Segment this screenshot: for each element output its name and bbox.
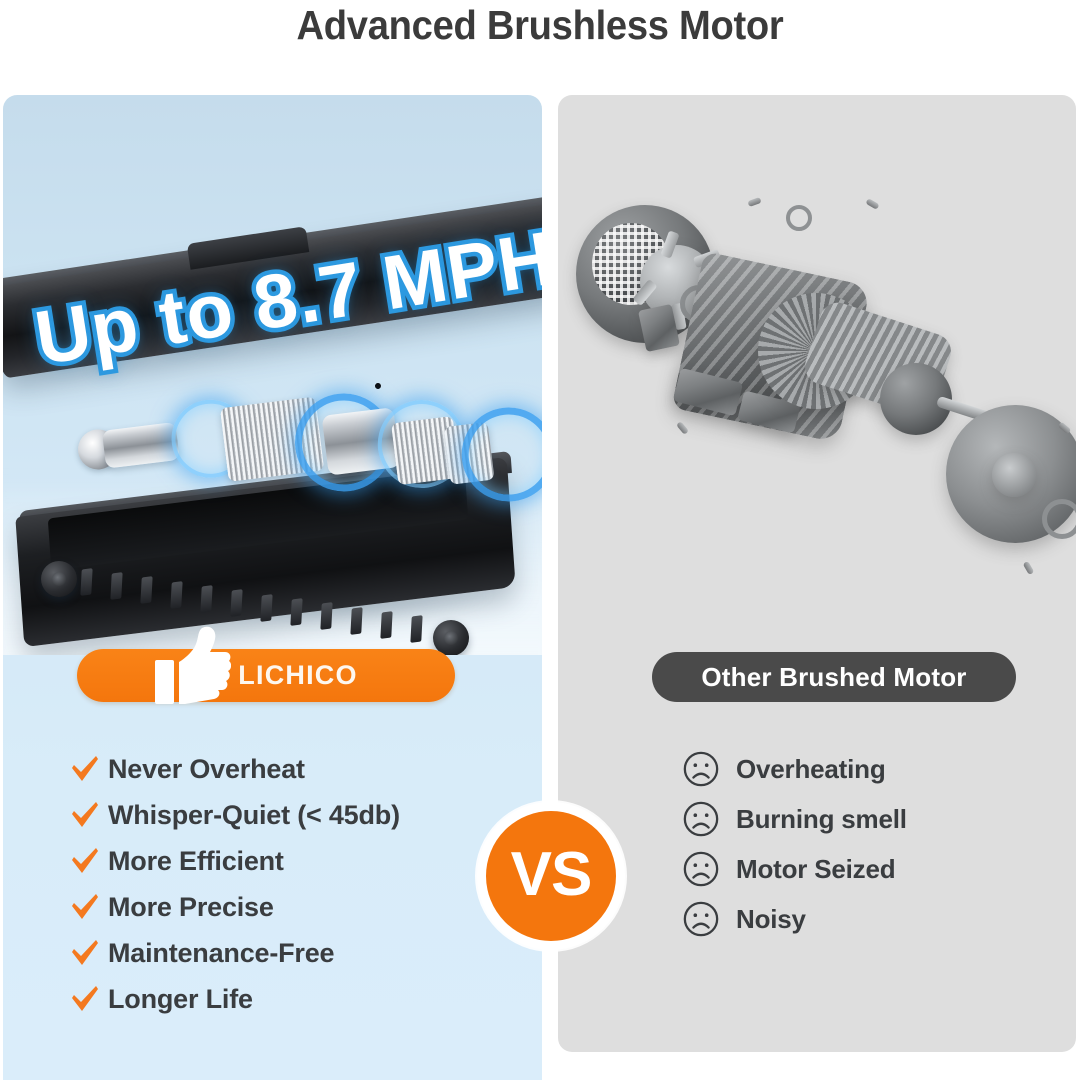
list-item: Motor Seized — [682, 844, 1042, 894]
check-icon — [62, 801, 108, 829]
deck-fin — [260, 594, 272, 622]
motor-shaft-segment — [102, 422, 180, 469]
motor-glow-ring — [456, 402, 542, 507]
motor-screw — [676, 421, 689, 435]
check-icon — [62, 893, 108, 921]
feature-label: Never Overheat — [108, 754, 305, 785]
brushed-motor-photo — [558, 95, 1076, 615]
feature-label: More Precise — [108, 892, 274, 923]
feature-label: Maintenance-Free — [108, 938, 334, 969]
list-item: More Efficient — [62, 838, 492, 884]
lichico-badge-label: LICHICO — [77, 649, 455, 702]
deck-fin — [380, 611, 392, 639]
deck-fin — [320, 602, 332, 630]
drawback-label: Noisy — [736, 904, 806, 935]
deck-caster-wheel — [41, 561, 77, 597]
infographic-stage: Advanced Brushless Motor — [0, 0, 1080, 1080]
list-item: Whisper-Quiet (< 45db) — [62, 792, 492, 838]
drawback-label: Motor Seized — [736, 854, 895, 885]
list-item: Never Overheat — [62, 746, 492, 792]
list-item: Longer Life — [62, 976, 492, 1022]
list-item: More Precise — [62, 884, 492, 930]
vs-label: VS — [511, 839, 592, 910]
check-icon — [62, 847, 108, 875]
sad-face-icon — [682, 850, 736, 888]
check-icon — [62, 985, 108, 1013]
list-item: Burning smell — [682, 794, 1042, 844]
feature-label: Whisper-Quiet (< 45db) — [108, 800, 400, 831]
brushless-motor-photo: Up to 8.7 MPH — [3, 95, 542, 655]
sad-face-icon — [682, 900, 736, 938]
sad-face-icon — [682, 800, 736, 838]
list-item: Maintenance-Free — [62, 930, 492, 976]
sad-face-icon — [682, 750, 736, 788]
drawback-label: Burning smell — [736, 804, 907, 835]
deck-fin — [230, 589, 242, 617]
deck-fin — [350, 607, 362, 635]
drawback-label: Overheating — [736, 754, 886, 785]
vs-badge: VS — [477, 802, 625, 950]
brushless-feature-list: Never Overheat Whisper-Quiet (< 45db) Mo… — [62, 746, 492, 1022]
list-item: Overheating — [682, 744, 1042, 794]
motor-o-ring — [1042, 499, 1076, 539]
check-icon — [62, 939, 108, 967]
page-title: Advanced Brushless Motor — [38, 0, 1042, 52]
lichico-badge: LICHICO — [77, 649, 455, 702]
feature-label: More Efficient — [108, 846, 284, 877]
feature-label: Longer Life — [108, 984, 253, 1015]
motor-bearing-seat — [992, 453, 1036, 497]
other-brushed-motor-badge-label: Other Brushed Motor — [701, 662, 966, 693]
other-brushed-motor-badge: Other Brushed Motor — [652, 652, 1016, 702]
deck-fin — [200, 585, 212, 613]
deck-fin — [290, 598, 302, 626]
list-item: Noisy — [682, 894, 1042, 944]
motor-screw — [865, 198, 879, 210]
motor-screw — [747, 197, 761, 207]
check-icon — [62, 755, 108, 783]
thumbs-up-icon — [155, 626, 231, 706]
deck-fin — [410, 615, 422, 643]
brushed-drawback-list: Overheating Burning smell — [682, 744, 1042, 944]
motor-lifting-eye — [786, 205, 812, 231]
motor-screw — [1023, 561, 1035, 575]
